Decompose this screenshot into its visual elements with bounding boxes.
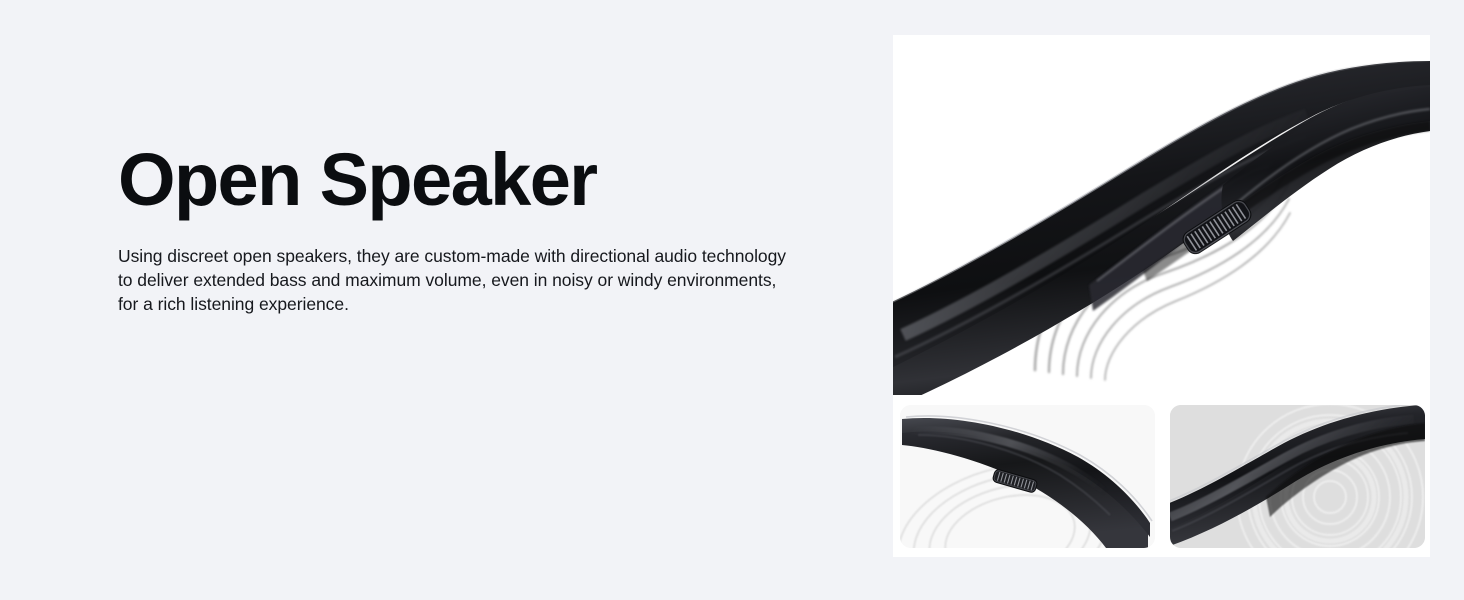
hero-illustration xyxy=(893,35,1430,395)
hero-product-image xyxy=(893,35,1430,395)
thumbnail-sound-ripples[interactable] xyxy=(1170,405,1425,548)
copy-block: Open Speaker Using discreet open speaker… xyxy=(118,138,818,316)
open-speaker-banner: Open Speaker Using discreet open speaker… xyxy=(0,0,1464,600)
page-title: Open Speaker xyxy=(118,138,818,222)
thumbnail-speaker-detail[interactable] xyxy=(900,405,1155,548)
media-panel xyxy=(893,35,1430,557)
thumbnail-left-illustration xyxy=(900,405,1155,548)
thumbnail-row xyxy=(900,405,1430,550)
description-text: Using discreet open speakers, they are c… xyxy=(118,244,790,316)
thumbnail-right-illustration xyxy=(1170,405,1425,548)
